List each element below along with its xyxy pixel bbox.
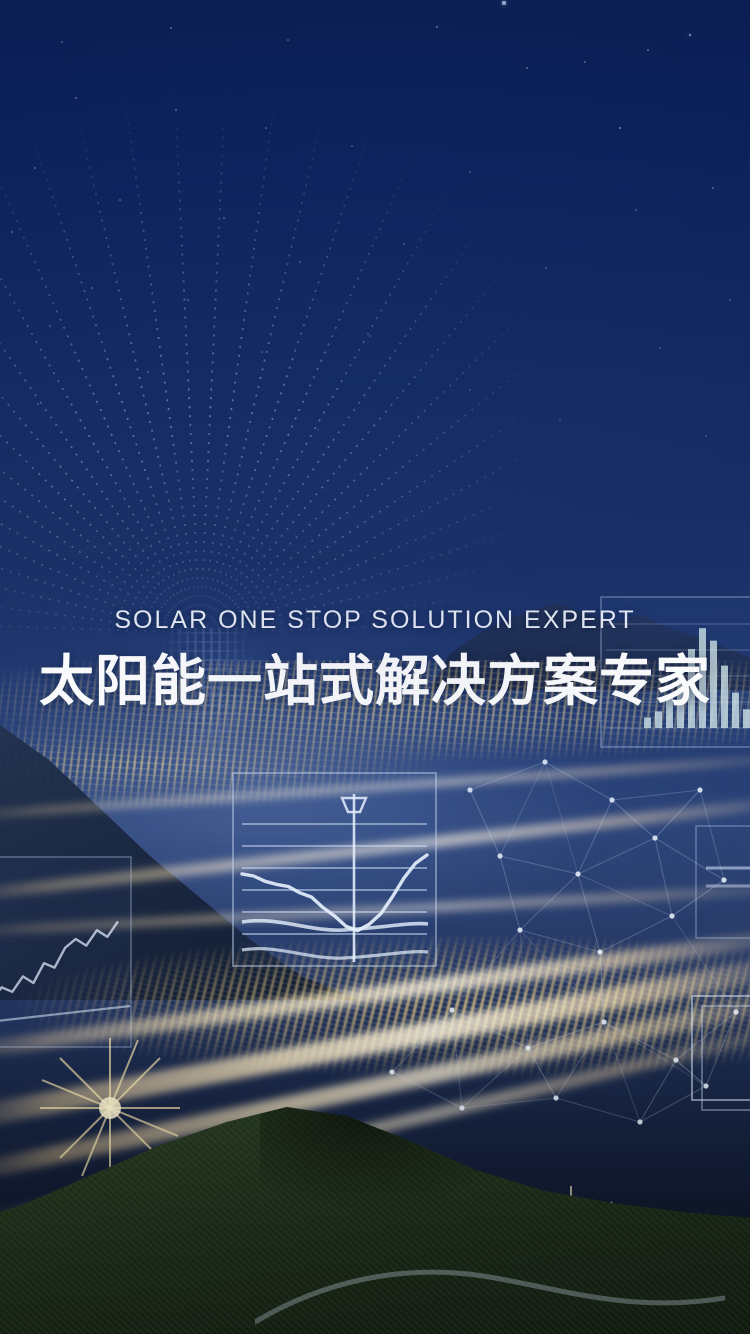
hero-banner: SOLAR ONE STOP SOLUTION EXPERT 太阳能一站式解决方…: [0, 0, 750, 1334]
color-grade-vignette: [0, 0, 750, 1334]
